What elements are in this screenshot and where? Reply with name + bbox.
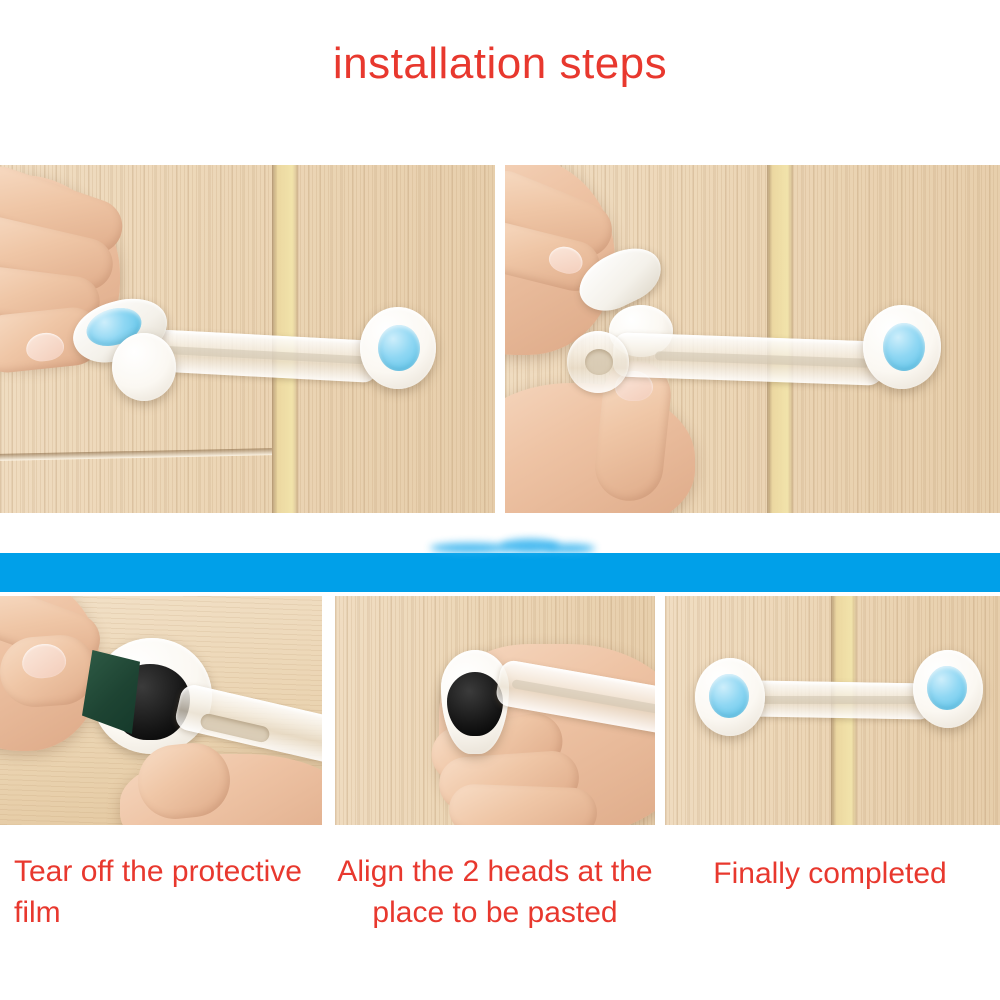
lock-blue-button-right xyxy=(378,325,420,371)
lock-blue-button-left xyxy=(709,674,749,718)
strap-ring-hole xyxy=(585,349,613,375)
steps-row-bottom xyxy=(0,596,1000,825)
finger xyxy=(448,783,598,825)
panel-gap xyxy=(655,596,665,825)
blue-divider-band xyxy=(0,553,1000,592)
steps-row-top xyxy=(0,165,1000,513)
step-photo-2 xyxy=(505,165,1000,513)
adhesive-pad xyxy=(447,672,503,736)
lock-blue-button-right xyxy=(927,666,967,710)
lock-blue-button-right xyxy=(883,323,925,371)
panel-gap xyxy=(322,596,335,825)
page-title: installation steps xyxy=(0,42,1000,86)
caption-step-5: Finally completed xyxy=(660,852,1000,957)
step-captions: Tear off the protective film Align the 2… xyxy=(0,852,1000,957)
lock-head-left xyxy=(112,333,176,401)
caption-step-4: Align the 2 heads at the place to be pas… xyxy=(330,852,660,957)
step-photo-3 xyxy=(0,596,322,825)
strap-groove xyxy=(757,696,919,704)
step-photo-5 xyxy=(665,596,1000,825)
blue-splash-decoration xyxy=(545,544,595,553)
step-photo-4 xyxy=(335,596,655,825)
caption-step-3: Tear off the protective film xyxy=(0,852,330,957)
step-photo-1 xyxy=(0,165,495,513)
blue-splash-decoration xyxy=(430,543,510,553)
